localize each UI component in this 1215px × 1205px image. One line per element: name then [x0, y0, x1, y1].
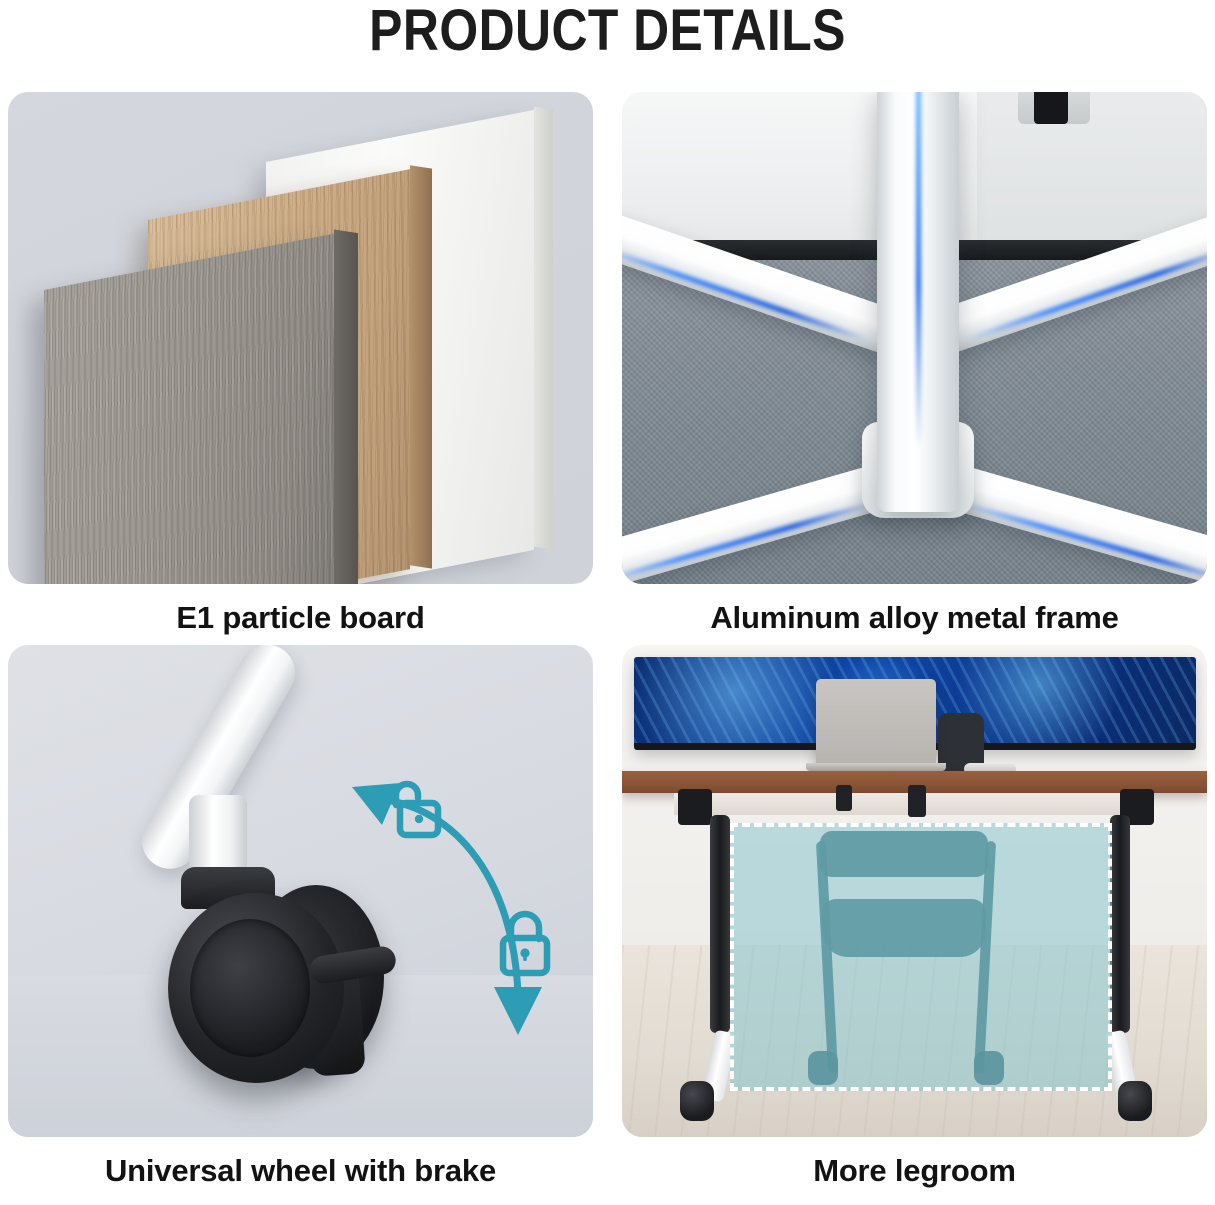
legroom-highlight-area — [730, 823, 1112, 1091]
feature-card-metal-frame: Aluminum alloy metal frame — [622, 92, 1207, 636]
product-details-page: PRODUCT DETAILS E1 particle board — [0, 0, 1215, 1205]
desk-leg-right — [1110, 815, 1130, 1033]
caption-universal-wheel: Universal wheel with brake — [8, 1153, 593, 1189]
desk-leg-left — [710, 815, 730, 1033]
desk-bracket-center-2 — [836, 785, 852, 811]
caption-more-legroom: More legroom — [622, 1153, 1207, 1189]
universal-wheel-image — [8, 645, 593, 1137]
feature-card-universal-wheel: Universal wheel with brake — [8, 645, 593, 1189]
desk-bracket-center — [908, 785, 926, 817]
oak-board-edge — [410, 165, 432, 568]
caption-metal-frame: Aluminum alloy metal frame — [622, 600, 1207, 636]
laptop-base — [806, 763, 946, 771]
feature-card-particle-board: E1 particle board — [8, 92, 593, 636]
grey-board — [44, 234, 334, 584]
feature-card-more-legroom: More legroom — [622, 645, 1207, 1189]
desk-caster-right — [1118, 1081, 1152, 1121]
frame-center-column — [877, 92, 959, 512]
frame-clip — [1034, 92, 1068, 124]
wall-panel-right — [977, 92, 1207, 240]
white-board-edge — [534, 107, 553, 550]
desk-caster-left — [680, 1081, 714, 1121]
blue-glow-line-column — [916, 92, 921, 448]
more-legroom-image — [622, 645, 1207, 1137]
grey-board-face — [44, 234, 334, 584]
particle-board-image — [8, 92, 593, 584]
grey-board-edge — [334, 229, 358, 584]
caption-particle-board: E1 particle board — [8, 600, 593, 636]
caster-wheel-front — [168, 893, 344, 1083]
curved-double-arrow-icon — [338, 763, 578, 1043]
desk-bracket-left — [678, 789, 712, 825]
feature-grid: E1 particle board — [8, 92, 1207, 1192]
laptop-screen — [816, 679, 936, 765]
page-title: PRODUCT DETAILS — [85, 0, 1130, 74]
metal-frame-image — [622, 92, 1207, 584]
